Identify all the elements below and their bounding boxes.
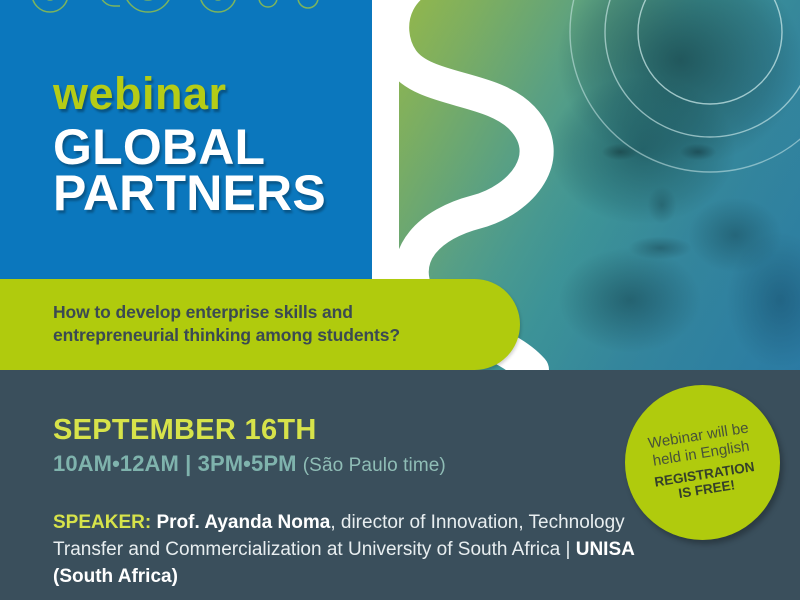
headline-partners: PARTNERS: [53, 168, 326, 218]
speaker-label: SPEAKER:: [53, 512, 151, 533]
speaker-role-line1: , director of Innovation,: [330, 512, 523, 533]
webinar-poster: webinar GLOBAL PARTNERS How to develop e…: [0, 0, 800, 600]
event-time-line: 10AM•12AM | 3PM•5PM (São Paulo time): [53, 453, 446, 475]
event-timezone: (São Paulo time): [303, 455, 446, 476]
headline-block: webinar GLOBAL PARTNERS: [53, 72, 326, 218]
schedule-block: SEPTEMBER 16TH 10AM•12AM | 3PM•5PM (São …: [53, 416, 446, 475]
speaker-role-line3: University of South Africa |: [348, 539, 576, 560]
event-date: SEPTEMBER 16TH: [53, 416, 446, 445]
badge-content: Webinar will be held in English REGISTRA…: [614, 374, 791, 551]
speaker-info: SPEAKER: Prof. Ayanda Noma, director of …: [53, 510, 653, 591]
banner-question-text: How to develop enterprise skills and ent…: [53, 301, 400, 347]
event-times: 10AM•12AM | 3PM•5PM: [53, 451, 297, 476]
speaker-name: Prof. Ayanda Noma: [156, 512, 330, 533]
question-banner: How to develop enterprise skills and ent…: [0, 279, 520, 370]
headline-webinar: webinar: [53, 72, 326, 116]
registration-badge: Webinar will be held in English REGISTRA…: [625, 385, 780, 540]
